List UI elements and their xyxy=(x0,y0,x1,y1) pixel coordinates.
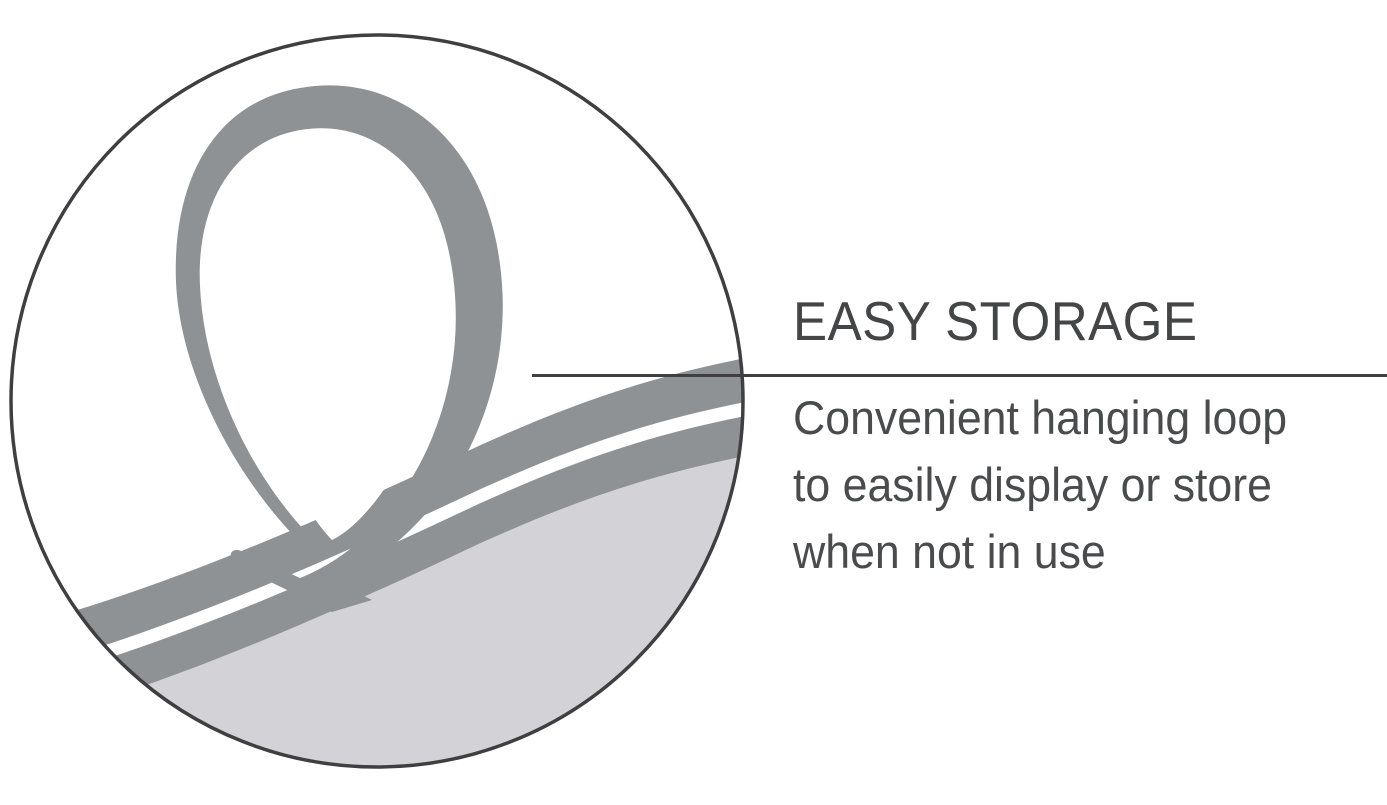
callout-body-line-1: Convenient hanging loop xyxy=(793,384,1344,451)
feature-callout-panel: EASY STORAGE Convenient hanging loop to … xyxy=(0,0,1387,805)
callout-body-copy: Convenient hanging loop to easily displa… xyxy=(793,384,1344,585)
hanging-loop-illustration xyxy=(0,0,805,805)
callout-heading: EASY STORAGE xyxy=(793,292,1332,350)
callout-text-block: EASY STORAGE Convenient hanging loop to … xyxy=(793,292,1373,585)
callout-body-line-3: when not in use xyxy=(793,518,1344,585)
callout-body-line-2: to easily display or store xyxy=(793,451,1344,518)
